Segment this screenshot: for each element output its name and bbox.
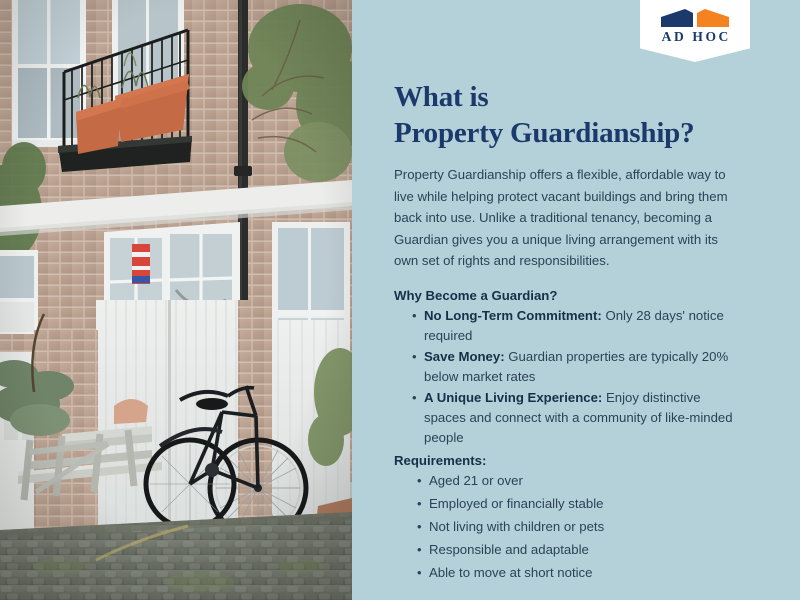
why-benefit-lead: A Unique Living Experience: (424, 390, 602, 405)
page-title-line1: What is (394, 81, 488, 113)
why-benefit-lead: Save Money: (424, 349, 505, 364)
poster-page: AD HOC What is Property Guardianship? Pr… (0, 0, 800, 600)
property-photo (0, 0, 352, 600)
requirements-section: Requirements: Aged 21 or overEmployed or… (394, 453, 740, 586)
intro-paragraph: Property Guardianship offers a flexible,… (394, 164, 734, 272)
requirement-item: Able to move at short notice (416, 563, 740, 583)
why-become-a-guardian-section: Why Become a Guardian? No Long-Term Comm… (394, 288, 740, 449)
property-photo-illustration (0, 0, 352, 600)
requirements-list: Aged 21 or overEmployed or financially s… (416, 471, 740, 583)
page-title-line2: Property Guardianship? (394, 116, 762, 152)
page-title: What is Property Guardianship? (394, 80, 762, 152)
requirement-item: Employed or financially stable (416, 494, 740, 514)
why-benefit-item: A Unique Living Experience: Enjoy distin… (411, 388, 740, 448)
requirement-item: Not living with children or pets (416, 517, 740, 537)
why-benefits-list: No Long-Term Commitment: Only 28 days' n… (411, 306, 740, 448)
requirements-section-title: Requirements: (394, 453, 740, 468)
requirement-item: Responsible and adaptable (416, 540, 740, 560)
requirement-item: Aged 21 or over (416, 471, 740, 491)
why-benefit-lead: No Long-Term Commitment: (424, 308, 602, 323)
content-column: What is Property Guardianship? Property … (394, 0, 762, 600)
why-section-title: Why Become a Guardian? (394, 288, 740, 303)
why-benefit-item: Save Money: Guardian properties are typi… (411, 347, 740, 387)
why-benefit-item: No Long-Term Commitment: Only 28 days' n… (411, 306, 740, 346)
